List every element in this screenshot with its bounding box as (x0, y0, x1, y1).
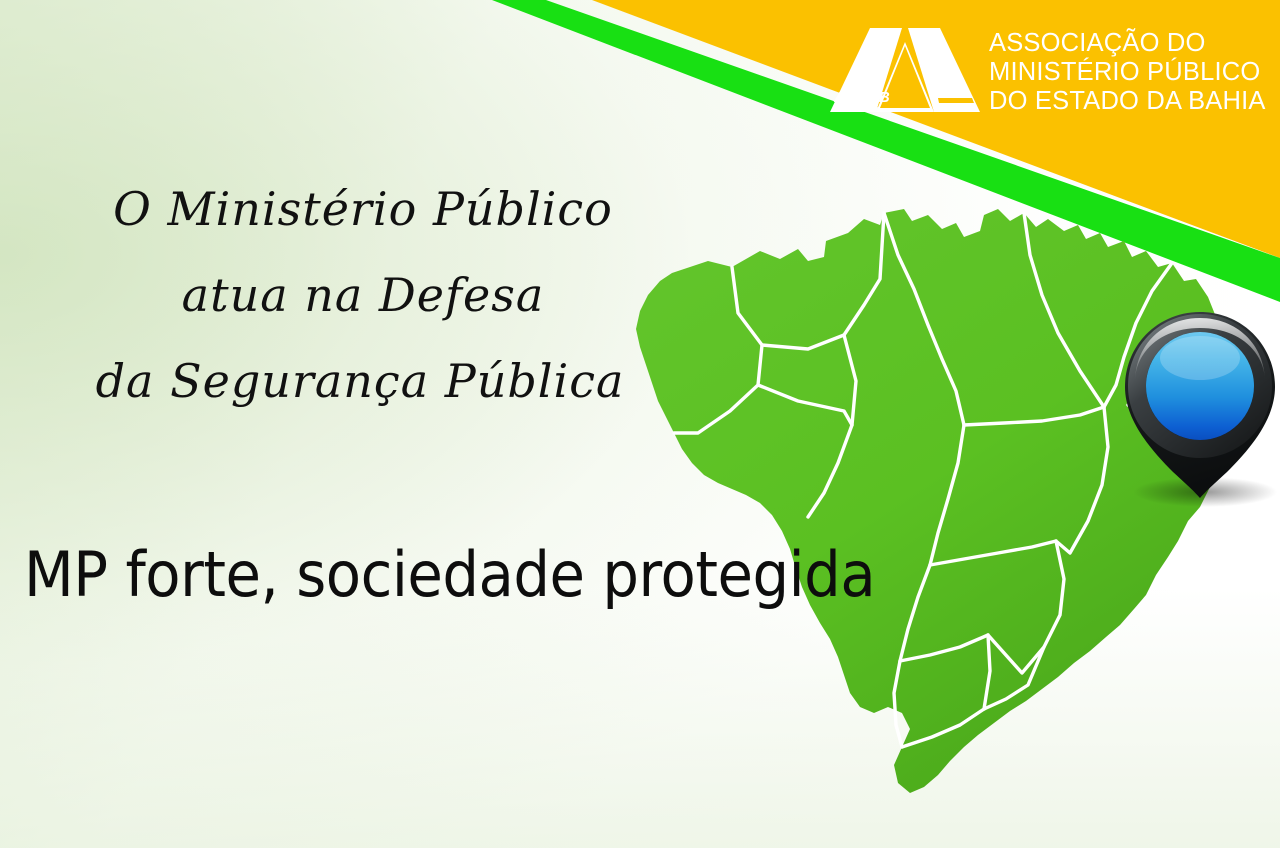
ampeb-title-line-3: DO ESTADO DA BAHIA (989, 87, 1266, 116)
ampeb-title: ASSOCIAÇÃO DO MINISTÉRIO PÚBLICO DO ESTA… (989, 29, 1266, 116)
tagline: MP forte, sociedade protegida (24, 544, 875, 606)
ampeb-logo: AMPEB ASSOCIAÇÃO DO MINISTÉRIO PÚBLICO D… (826, 24, 1266, 120)
ampeb-title-line-2: MINISTÉRIO PÚBLICO (989, 58, 1266, 87)
headline-line-3: da Segurança Pública (60, 358, 660, 404)
headline-line-2: atua na Defesa (66, 272, 660, 318)
map-pin-marker[interactable] (1113, 302, 1280, 507)
pin-dome-highlight (1160, 336, 1240, 380)
headline-text: O Ministério Público atua na Defesa da S… (60, 186, 660, 404)
poster-canvas: O Ministério Público atua na Defesa da S… (0, 0, 1280, 848)
ampeb-title-line-1: ASSOCIAÇÃO DO (989, 29, 1266, 58)
ampeb-wordmark: AMPEB (834, 90, 890, 105)
headline-line-1: O Ministério Público (66, 186, 660, 232)
